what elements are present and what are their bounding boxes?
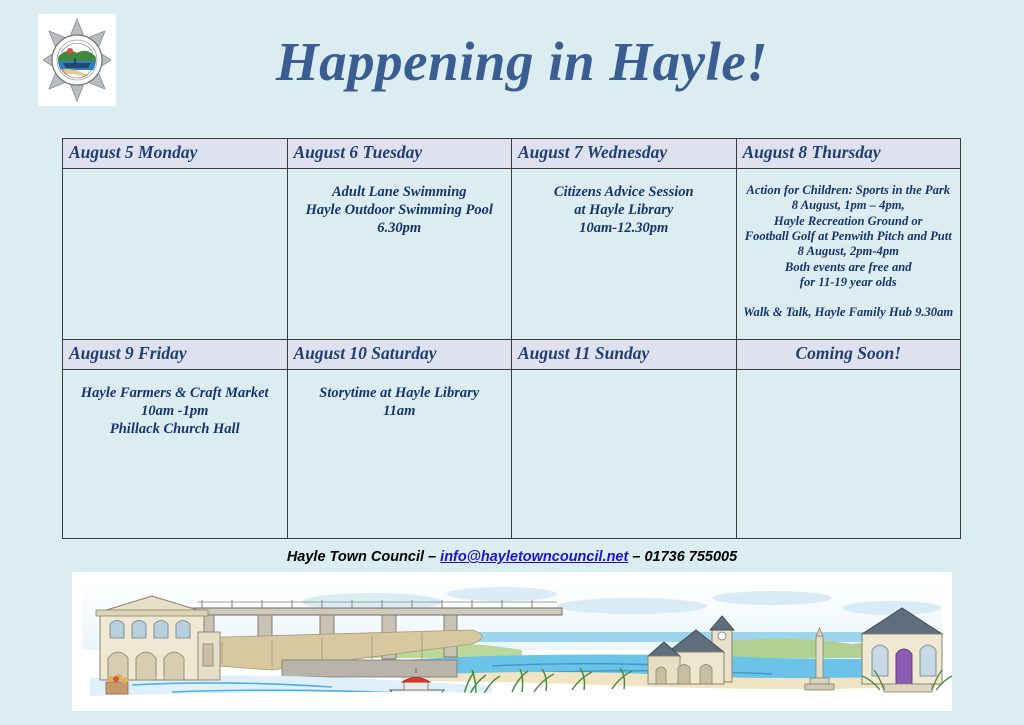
contact-line: Hayle Town Council – info@hayletowncounc… bbox=[0, 549, 1024, 565]
event-list-tuesday: Adult Lane Swimming Hayle Outdoor Swimmi… bbox=[293, 183, 507, 237]
event-line: Citizens Advice Session bbox=[517, 183, 731, 201]
day-label: August 5 Monday bbox=[69, 142, 281, 163]
day-cell-monday bbox=[63, 169, 288, 340]
day-cell-sunday bbox=[512, 370, 737, 539]
event-line-spacer bbox=[742, 291, 956, 305]
day-cell-friday: Hayle Farmers & Craft Market 10am -1pm P… bbox=[63, 370, 288, 539]
event-line: Walk & Talk, Hayle Family Hub 9.30am bbox=[742, 305, 956, 320]
day-label: Coming Soon! bbox=[743, 343, 955, 364]
day-label: August 10 Saturday bbox=[294, 343, 506, 364]
event-list-friday: Hayle Farmers & Craft Market 10am -1pm P… bbox=[68, 384, 282, 438]
table-row: Adult Lane Swimming Hayle Outdoor Swimmi… bbox=[63, 169, 961, 340]
day-header-cell-friday: August 9 Friday bbox=[63, 340, 288, 370]
event-line: Football Golf at Penwith Pitch and Putt bbox=[742, 229, 956, 244]
day-label: August 6 Tuesday bbox=[294, 142, 506, 163]
day-header-cell-monday: August 5 Monday bbox=[63, 139, 288, 169]
page-header: Happening in Hayle! bbox=[0, 0, 1024, 125]
event-line: Hayle Recreation Ground or bbox=[742, 214, 956, 229]
event-line: 6.30pm bbox=[293, 219, 507, 237]
day-label: August 9 Friday bbox=[69, 343, 281, 364]
council-name: Hayle Town Council – bbox=[287, 549, 440, 565]
day-header-cell-coming-soon: Coming Soon! bbox=[736, 340, 961, 370]
event-line: 8 August, 2pm-4pm bbox=[742, 244, 956, 259]
day-cell-saturday: Storytime at Hayle Library 11am bbox=[287, 370, 512, 539]
event-line: Phillack Church Hall bbox=[68, 420, 282, 438]
event-line: 11am bbox=[293, 402, 507, 420]
table-row: August 9 Friday August 10 Saturday Augus… bbox=[63, 340, 961, 370]
day-cell-thursday: Action for Children: Sports in the Park … bbox=[736, 169, 961, 340]
day-header-cell-tuesday: August 6 Tuesday bbox=[287, 139, 512, 169]
event-line: 10am -1pm bbox=[68, 402, 282, 420]
day-header-cell-sunday: August 11 Sunday bbox=[512, 340, 737, 370]
hayle-townscape-illustration bbox=[72, 572, 952, 711]
event-line: Both events are free and bbox=[742, 260, 956, 275]
event-list-wednesday: Citizens Advice Session at Hayle Library… bbox=[517, 183, 731, 237]
day-cell-coming-soon bbox=[736, 370, 961, 539]
event-list-thursday: Action for Children: Sports in the Park … bbox=[742, 183, 956, 320]
event-line: Hayle Farmers & Craft Market bbox=[68, 384, 282, 402]
day-header-cell-thursday: August 8 Thursday bbox=[736, 139, 961, 169]
day-header-cell-saturday: August 10 Saturday bbox=[287, 340, 512, 370]
day-label: August 11 Sunday bbox=[518, 343, 730, 364]
phone-number: – 01736 755005 bbox=[628, 549, 737, 565]
event-line: Hayle Outdoor Swimming Pool bbox=[293, 201, 507, 219]
event-list-saturday: Storytime at Hayle Library 11am bbox=[293, 384, 507, 420]
event-line: Storytime at Hayle Library bbox=[293, 384, 507, 402]
day-header-cell-wednesday: August 7 Wednesday bbox=[512, 139, 737, 169]
event-line: 10am-12.30pm bbox=[517, 219, 731, 237]
table-row: Hayle Farmers & Craft Market 10am -1pm P… bbox=[63, 370, 961, 539]
table-row: August 5 Monday August 6 Tuesday August … bbox=[63, 139, 961, 169]
event-line: for 11-19 year olds bbox=[742, 275, 956, 290]
calendar-table: August 5 Monday August 6 Tuesday August … bbox=[62, 138, 961, 539]
event-line: at Hayle Library bbox=[517, 201, 731, 219]
day-label: August 7 Wednesday bbox=[518, 142, 730, 163]
event-line: 8 August, 1pm – 4pm, bbox=[742, 198, 956, 213]
email-link[interactable]: info@hayletowncouncil.net bbox=[440, 549, 628, 565]
day-label: August 8 Thursday bbox=[743, 142, 955, 163]
event-line: Adult Lane Swimming bbox=[293, 183, 507, 201]
event-line: Action for Children: Sports in the Park bbox=[742, 183, 956, 198]
events-calendar: August 5 Monday August 6 Tuesday August … bbox=[62, 138, 961, 539]
day-cell-wednesday: Citizens Advice Session at Hayle Library… bbox=[512, 169, 737, 340]
page-title: Happening in Hayle! bbox=[0, 30, 1024, 93]
day-cell-tuesday: Adult Lane Swimming Hayle Outdoor Swimmi… bbox=[287, 169, 512, 340]
